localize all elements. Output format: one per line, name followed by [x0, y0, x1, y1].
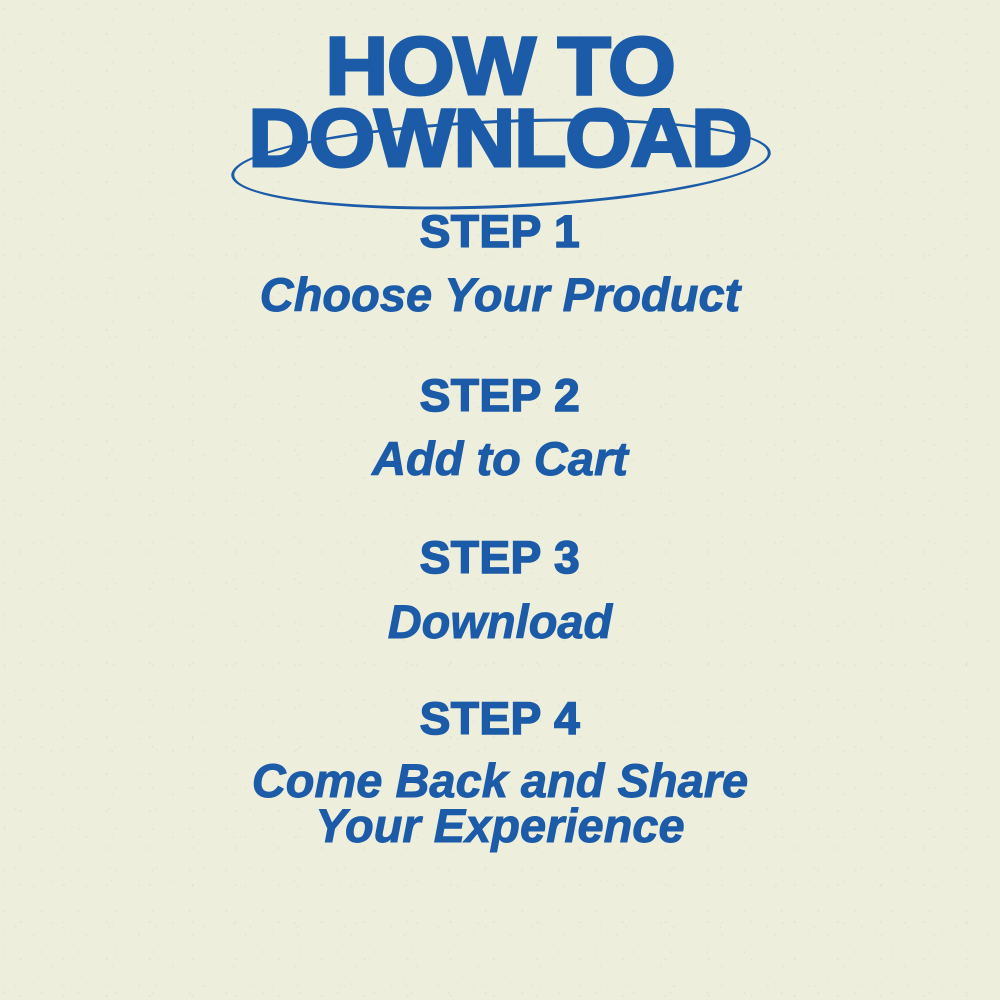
step-3-text: Download	[0, 598, 1000, 645]
step-1-text: Choose Your Product	[0, 271, 1000, 318]
poster-canvas: HOW TO DOWNLOAD STEP 1 Choose Your Produ…	[0, 0, 1000, 1000]
step-item-3: STEP 3 Download	[0, 532, 1000, 644]
step-4-text-line-2: Your Experience	[0, 803, 1000, 849]
step-4-label: STEP 4	[0, 693, 1000, 745]
step-2-label: STEP 2	[0, 370, 1000, 422]
step-3-label: STEP 3	[0, 532, 1000, 584]
step-item-1: STEP 1 Choose Your Product	[0, 206, 1000, 318]
step-item-2: STEP 2 Add to Cart	[0, 370, 1000, 482]
poster-title: HOW TO DOWNLOAD	[0, 28, 1000, 178]
step-item-4: STEP 4 Come Back and Share Your Experien…	[0, 693, 1000, 849]
title-line-download: DOWNLOAD	[0, 100, 1000, 178]
step-4-text-line-1: Come Back and Share	[0, 758, 1000, 804]
step-1-label: STEP 1	[0, 206, 1000, 258]
steps-list: STEP 1 Choose Your Product STEP 2 Add to…	[0, 206, 1000, 849]
step-2-text: Add to Cart	[0, 435, 1000, 482]
